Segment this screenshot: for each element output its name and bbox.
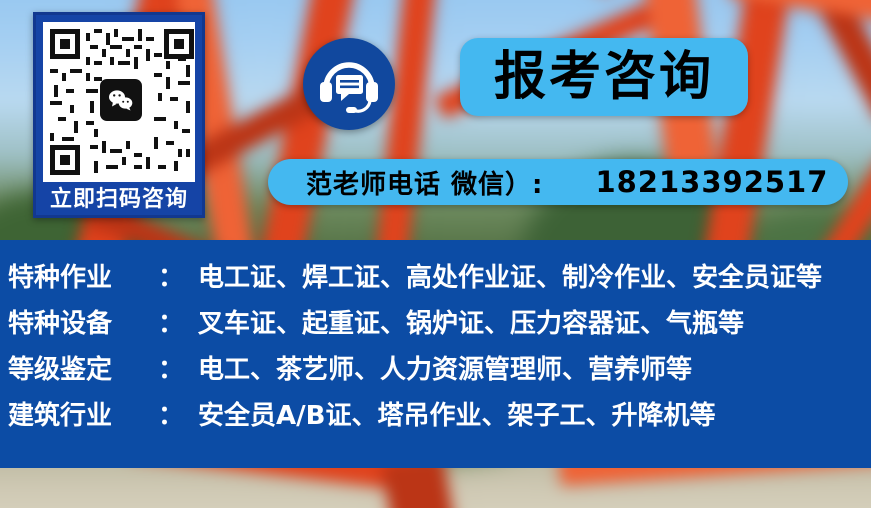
qr-code-image — [43, 22, 195, 182]
category-colon: ： — [158, 395, 184, 432]
category-row: 特种设备 ： 叉车证、起重证、锅炉证、压力容器证、气瓶等 — [0, 303, 871, 349]
contact-phone-number[interactable]: 18213392517 — [595, 165, 828, 199]
title-pill[interactable]: 报考咨询 — [460, 38, 748, 116]
category-items: 电工、茶艺师、人力资源管理师、营养师等 — [198, 349, 692, 386]
wechat-icon — [100, 79, 142, 121]
qr-finder-top-right — [164, 29, 194, 59]
crane-beam — [795, 0, 871, 122]
category-row: 等级鉴定 ： 电工、茶艺师、人力资源管理师、营养师等 — [0, 349, 871, 395]
qr-code-modules — [50, 29, 194, 175]
qr-code-card[interactable]: 立即扫码咨询 — [33, 12, 205, 218]
promo-poster: 立即扫码咨询 报考咨询 范老师电话 微信）: 18213392517 特 — [0, 0, 871, 508]
title-pill-label: 报考咨询 — [494, 51, 714, 103]
category-name: 特种作业 — [8, 257, 158, 294]
category-name: 建筑行业 — [8, 395, 158, 432]
category-items: 安全员A/B证、塔吊作业、架子工、升降机等 — [198, 395, 715, 432]
category-colon: ： — [158, 349, 184, 386]
headset-chat-icon — [303, 38, 395, 130]
category-name: 特种设备 — [8, 303, 158, 340]
contact-pill[interactable]: 范老师电话 微信）: 18213392517 — [268, 159, 848, 205]
category-items: 电工证、焊工证、高处作业证、制冷作业、安全员证等 — [198, 257, 822, 294]
qr-finder-top-left — [50, 29, 80, 59]
contact-label: 范老师电话 微信）: — [306, 164, 543, 201]
category-colon: ： — [158, 257, 184, 294]
certificate-categories-panel: 特种作业 ： 电工证、焊工证、高处作业证、制冷作业、安全员证等 特种设备 ： 叉… — [0, 240, 871, 468]
category-row: 建筑行业 ： 安全员A/B证、塔吊作业、架子工、升降机等 — [0, 395, 871, 441]
category-row: 特种作业 ： 电工证、焊工证、高处作业证、制冷作业、安全员证等 — [0, 257, 871, 303]
qr-finder-bottom-left — [50, 145, 80, 175]
category-items: 叉车证、起重证、锅炉证、压力容器证、气瓶等 — [198, 303, 744, 340]
category-name: 等级鉴定 — [8, 349, 158, 386]
category-colon: ： — [158, 303, 184, 340]
qr-caption: 立即扫码咨询 — [43, 182, 195, 218]
